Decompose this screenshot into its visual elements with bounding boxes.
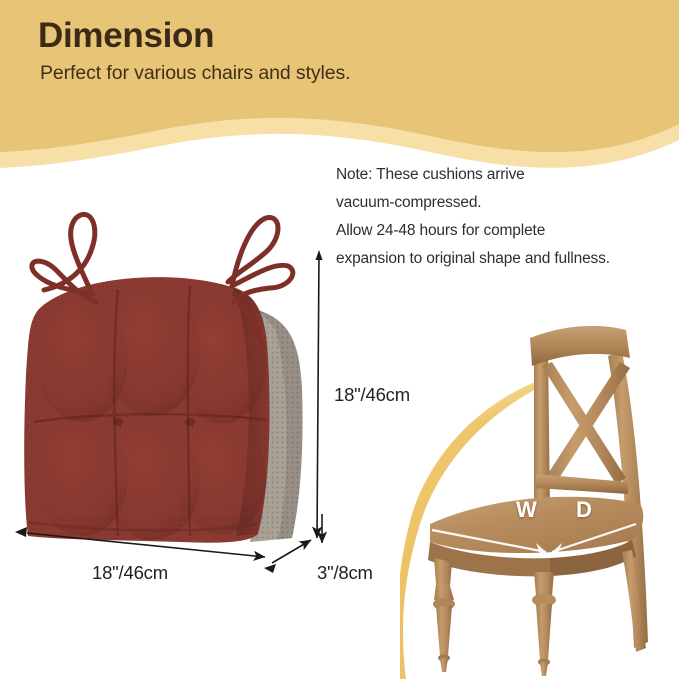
product-dimension-infographic: Dimension Perfect for various chairs and… bbox=[0, 0, 679, 679]
note-line-1: Note: These cushions arrive bbox=[336, 161, 666, 189]
seat-depth-letter: D bbox=[576, 497, 592, 523]
chair-front-right-leg bbox=[532, 572, 556, 676]
page-subtitle: Perfect for various chairs and styles. bbox=[40, 62, 351, 85]
chair-photo-figure: W D bbox=[400, 300, 679, 679]
seat-width-letter: W bbox=[516, 497, 537, 523]
depth-dimension-label: 3"/8cm bbox=[317, 562, 373, 584]
chair-front-left-leg bbox=[433, 558, 455, 672]
width-dimension-label: 18"/46cm bbox=[92, 562, 168, 584]
tuft-puff bbox=[178, 422, 266, 534]
header-banner: Dimension Perfect for various chairs and… bbox=[0, 0, 679, 185]
page-title: Dimension bbox=[38, 16, 214, 56]
height-dimension-label: 18"/46cm bbox=[334, 384, 410, 406]
chair-illustration bbox=[400, 300, 679, 679]
